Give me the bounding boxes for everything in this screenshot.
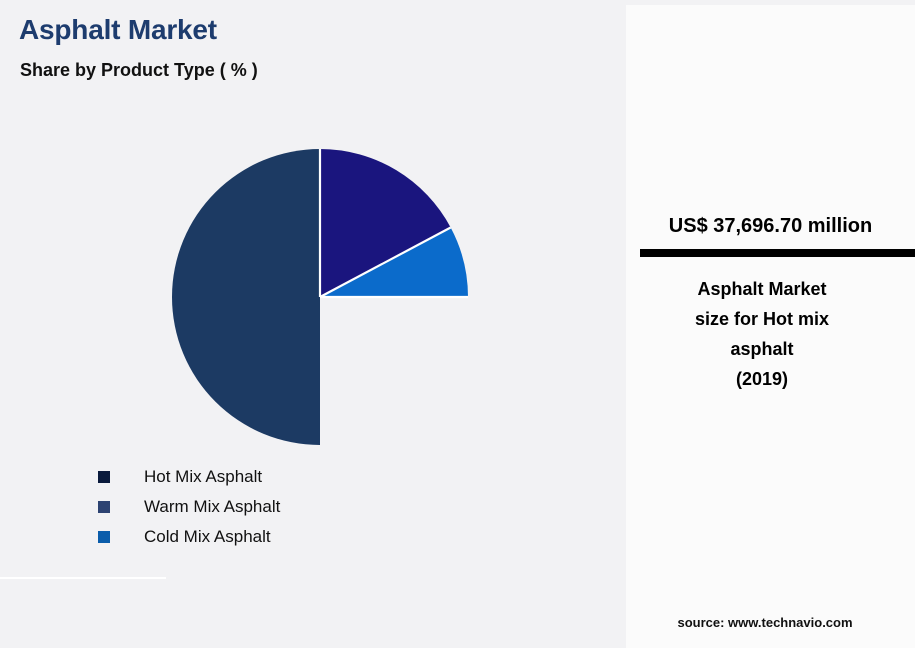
legend-swatch-icon	[98, 531, 110, 543]
callout-description-line: Asphalt Market	[640, 274, 884, 304]
legend-item-label: Cold Mix Asphalt	[144, 527, 271, 547]
source-attribution: source: www.technavio.com	[626, 615, 904, 630]
legend-item-warm-mix-asphalt[interactable]: Warm Mix Asphalt	[98, 492, 518, 522]
page-title: Asphalt Market	[19, 14, 217, 46]
callout-panel-top-edge	[626, 0, 915, 5]
legend-item-hot-mix-asphalt[interactable]: Hot Mix Asphalt	[98, 462, 518, 492]
callout-description: Asphalt Market size for Hot mix asphalt …	[640, 274, 884, 394]
legend-swatch-icon	[98, 501, 110, 513]
pie-slice-hot-mix-asphalt[interactable]	[172, 149, 320, 445]
legend-item-label: Hot Mix Asphalt	[144, 467, 262, 487]
chart-left-panel: Asphalt Market Share by Product Type ( %…	[0, 0, 626, 648]
callout-description-line: asphalt	[640, 334, 884, 364]
chart-canvas: Asphalt Market Share by Product Type ( %…	[0, 0, 915, 648]
chart-legend: Hot Mix Asphalt Warm Mix Asphalt Cold Mi…	[98, 462, 518, 552]
callout-description-line: (2019)	[640, 364, 884, 394]
legend-item-cold-mix-asphalt[interactable]: Cold Mix Asphalt	[98, 522, 518, 552]
pie-chart	[172, 149, 468, 445]
legend-swatch-icon	[98, 471, 110, 483]
chart-subtitle: Share by Product Type ( % )	[20, 60, 258, 81]
callout-underline	[640, 249, 915, 257]
footer-divider	[0, 577, 166, 579]
callout-value: US$ 37,696.70 million	[626, 215, 915, 238]
legend-item-label: Warm Mix Asphalt	[144, 497, 280, 517]
pie-chart-svg	[172, 149, 468, 445]
callout-description-line: size for Hot mix	[640, 304, 884, 334]
